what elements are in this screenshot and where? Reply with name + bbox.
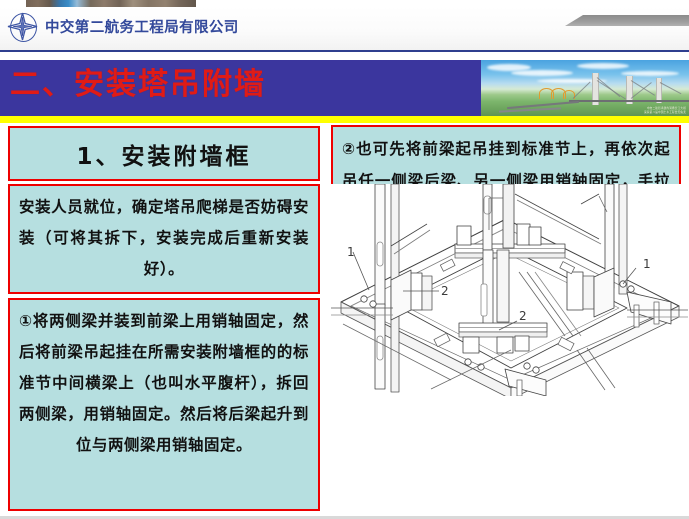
cloud-shape [577, 63, 629, 69]
company-logo: 中交第二航务工程局有限公司 [7, 11, 239, 42]
bridge-cable [597, 80, 626, 99]
gray-corner-wedge [565, 15, 689, 26]
company-name: 中交第二航务工程局有限公司 [45, 16, 239, 37]
compass-star-logo-icon [7, 11, 38, 42]
title-accent-band [0, 116, 689, 123]
left-column: 1、安装附墙框 安装人员就位，确定塔吊爬梯是否妨碍安装（可将其拆下，安装完成后重… [8, 126, 320, 511]
left-paragraph-2: ①将两侧梁并装到前梁上用销轴固定，然后将前梁吊起挂在所需安装附墙框的的标准节中间… [8, 298, 320, 511]
logo-star-glyph [7, 12, 38, 41]
header-divider [0, 50, 689, 52]
diagram-callout-1a: 1 [347, 245, 355, 259]
photo-caption: 中交二航局承建的润扬长江大桥 荣获第八届中国土木工程詹天佑奖 [644, 107, 686, 114]
tower-crane-wall-attachment-drawing: 1 1 2 2 [331, 184, 688, 396]
photo-filmstrip [26, 0, 196, 7]
diagram-callout-1b: 1 [643, 257, 651, 271]
slide-canvas: 中交第二航务工程局有限公司 二、安装塔吊附墙 中交二航局承建的润扬长江大桥 荣获… [0, 0, 689, 519]
left-heading-box: 1、安装附墙框 [8, 126, 320, 181]
page-title: 二、安装塔吊附墙 [10, 63, 266, 107]
bridge-cable [660, 82, 682, 94]
diagram-callout-2a: 2 [441, 284, 449, 298]
bridge-deck [569, 100, 689, 102]
bridge-photo: 中交二航局承建的润扬长江大桥 荣获第八届中国土木工程詹天佑奖 [481, 60, 689, 116]
cloud-shape [511, 70, 573, 76]
left-paragraph-1: 安装人员就位，确定塔吊爬梯是否妨碍安装（可将其拆下，安装完成后重新安装好）。 [8, 184, 320, 294]
drawing-svg: 1 1 2 2 [331, 184, 688, 396]
diagram-callout-2b: 2 [519, 309, 527, 323]
bridge-cable [573, 81, 591, 98]
